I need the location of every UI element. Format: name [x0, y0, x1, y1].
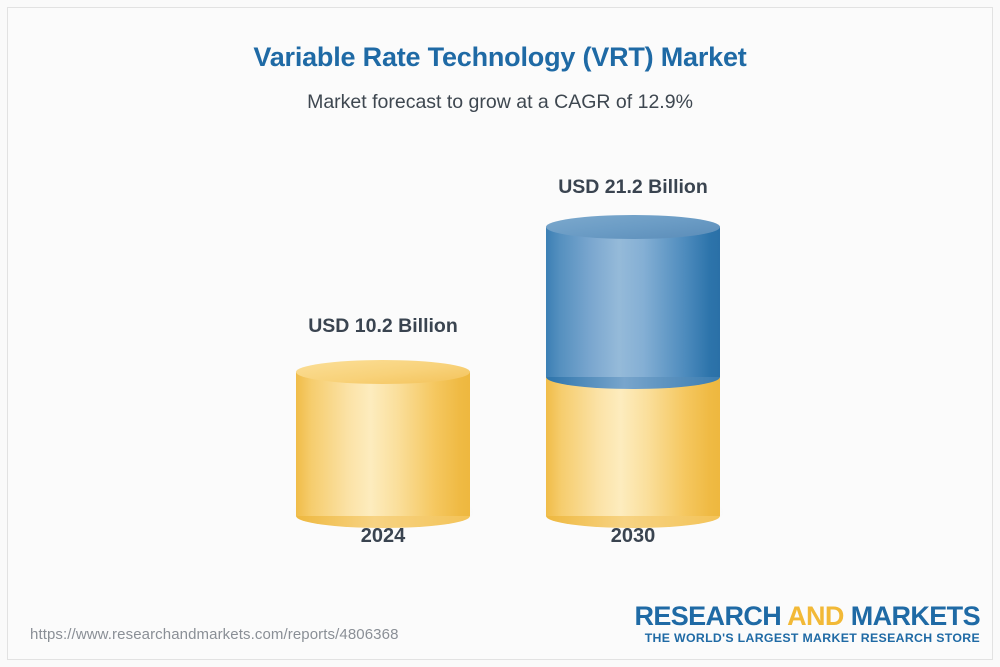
cylinder-body — [546, 227, 720, 377]
logo-wordmark: RESEARCH AND MARKETS — [634, 602, 980, 630]
cylinder-top-face — [546, 215, 720, 239]
logo-word-markets: MARKETS — [851, 601, 980, 631]
logo-word-research: RESEARCH — [634, 601, 781, 631]
bar-category-label-2024: 2024 — [253, 525, 513, 548]
chart-card: Variable Rate Technology (VRT) Market Ma… — [0, 0, 1000, 667]
chart-panel: Variable Rate Technology (VRT) Market Ma… — [7, 7, 993, 660]
cylinder-2030 — [546, 215, 720, 516]
plot-area: USD 10.2 Billion 2024 USD 21.2 Billion — [8, 8, 992, 659]
cylinder-segment-base — [546, 372, 720, 516]
bar-value-label-2030: USD 21.2 Billion — [503, 176, 763, 199]
bar-category-label-2030: 2030 — [503, 525, 763, 548]
cylinder-top-face — [296, 360, 470, 384]
cylinder-segment-growth — [546, 227, 720, 377]
bar-value-label-2024: USD 10.2 Billion — [253, 315, 513, 338]
cylinder-body — [296, 372, 470, 516]
logo-tagline: THE WORLD'S LARGEST MARKET RESEARCH STOR… — [634, 631, 980, 645]
cylinder-2024 — [296, 360, 470, 516]
cylinder-body — [546, 372, 720, 516]
bar-group-2024: USD 10.2 Billion 2024 — [286, 203, 480, 533]
logo[interactable]: RESEARCH AND MARKETS THE WORLD'S LARGEST… — [634, 602, 980, 645]
source-url[interactable]: https://www.researchandmarkets.com/repor… — [30, 626, 399, 643]
bar-group-2030: USD 21.2 Billion 2030 — [536, 158, 730, 533]
cylinder-segment-base — [296, 372, 470, 516]
logo-word-and: AND — [787, 601, 844, 631]
